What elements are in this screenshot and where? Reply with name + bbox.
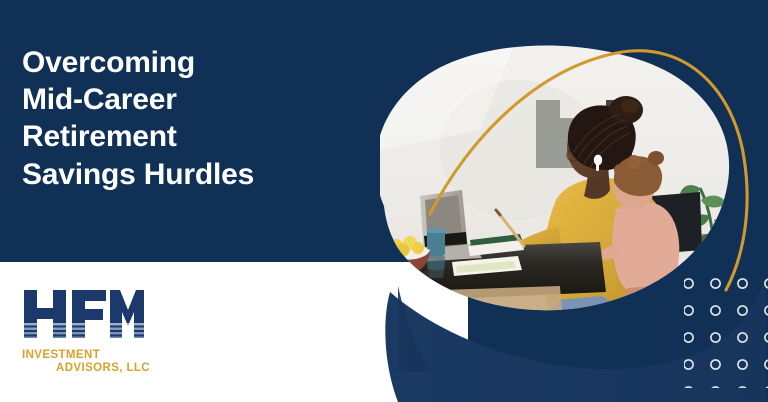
title-line-3: Retirement bbox=[22, 118, 362, 155]
logo-line-advisors: ADVISORS, LLC bbox=[56, 362, 182, 375]
title-line-4: Savings Hurdles bbox=[22, 156, 362, 193]
title-line-1: Overcoming bbox=[22, 44, 362, 81]
hfm-logo-subtext: INVESTMENT ADVISORS, LLC bbox=[22, 349, 182, 375]
logo-line-investment: INVESTMENT bbox=[22, 349, 182, 362]
hfm-logo[interactable]: INVESTMENT ADVISORS, LLC bbox=[22, 288, 202, 380]
title-line-2: Mid-Career bbox=[22, 81, 362, 118]
chair-seat bbox=[556, 322, 673, 357]
page-title: Overcoming Mid-Career Retirement Savings… bbox=[22, 44, 362, 193]
hfm-logo-mark bbox=[22, 288, 144, 342]
banner-canvas: Overcoming Mid-Career Retirement Savings… bbox=[0, 0, 768, 402]
dot-grid-pattern bbox=[684, 276, 768, 388]
